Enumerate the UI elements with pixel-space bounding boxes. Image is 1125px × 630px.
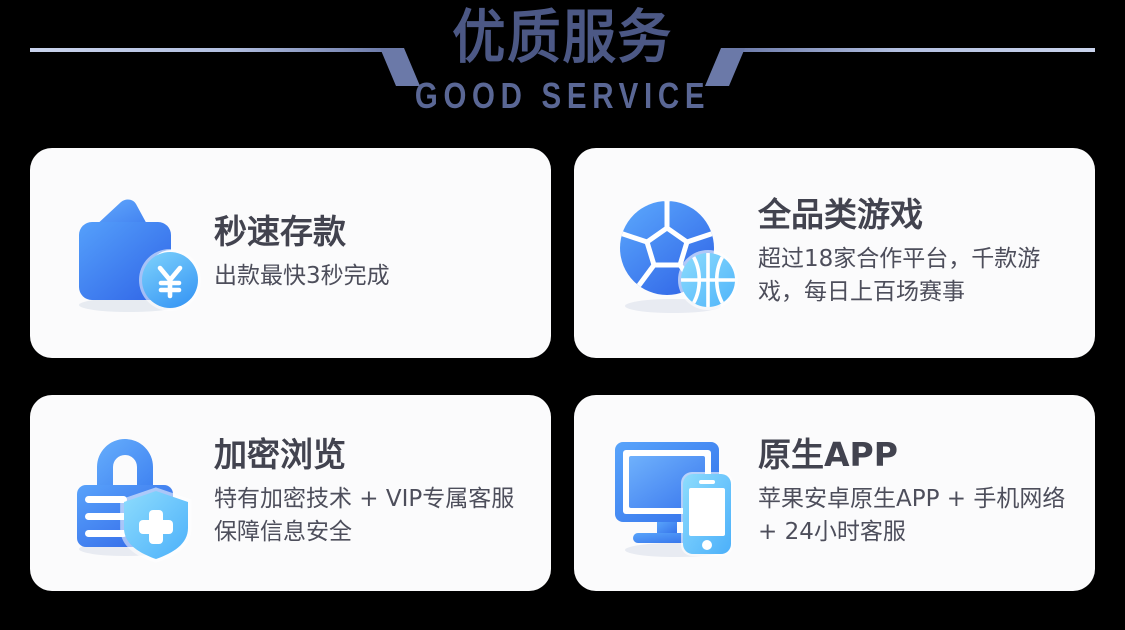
card-subtitle: 特有加密技术 + VIP专属客服保障信息安全 (214, 483, 537, 548)
page-header: 优质服务 GOOD SERVICE (0, 0, 1125, 140)
feature-card-native-app[interactable]: 原生APP 苹果安卓原生APP + 手机网络 + 24小时客服 (574, 395, 1095, 591)
header-title-block: 优质服务 GOOD SERVICE (0, 0, 1125, 111)
card-text-block: 加密浏览 特有加密技术 + VIP专属客服保障信息安全 (208, 437, 551, 548)
card-title: 加密浏览 (214, 437, 537, 474)
monitor-phone-icon (602, 423, 752, 563)
feature-card-grid: 秒速存款 出款最快3秒完成 (30, 148, 1095, 591)
card-subtitle: 超过18家合作平台，千款游戏，每日上百场赛事 (758, 243, 1081, 308)
wallet-yen-icon (58, 183, 208, 323)
card-subtitle: 出款最快3秒完成 (214, 260, 390, 293)
feature-card-instant-deposit[interactable]: 秒速存款 出款最快3秒完成 (30, 148, 551, 358)
lock-shield-icon (58, 423, 208, 563)
feature-card-all-game-categories[interactable]: 全品类游戏 超过18家合作平台，千款游戏，每日上百场赛事 (574, 148, 1095, 358)
card-title: 全品类游戏 (758, 197, 1081, 234)
card-text-block: 秒速存款 出款最快3秒完成 (208, 214, 404, 293)
feature-card-encrypted-browsing[interactable]: 加密浏览 特有加密技术 + VIP专属客服保障信息安全 (30, 395, 551, 591)
card-title: 原生APP (758, 437, 1081, 474)
card-title: 秒速存款 (214, 214, 390, 251)
card-subtitle: 苹果安卓原生APP + 手机网络 + 24小时客服 (758, 483, 1081, 548)
soccer-basketball-icon (602, 183, 752, 323)
page-title-cn: 优质服务 (45, 8, 1080, 66)
page-title-en: GOOD SERVICE (28, 77, 1097, 114)
card-text-block: 原生APP 苹果安卓原生APP + 手机网络 + 24小时客服 (752, 437, 1095, 548)
card-text-block: 全品类游戏 超过18家合作平台，千款游戏，每日上百场赛事 (752, 197, 1095, 308)
